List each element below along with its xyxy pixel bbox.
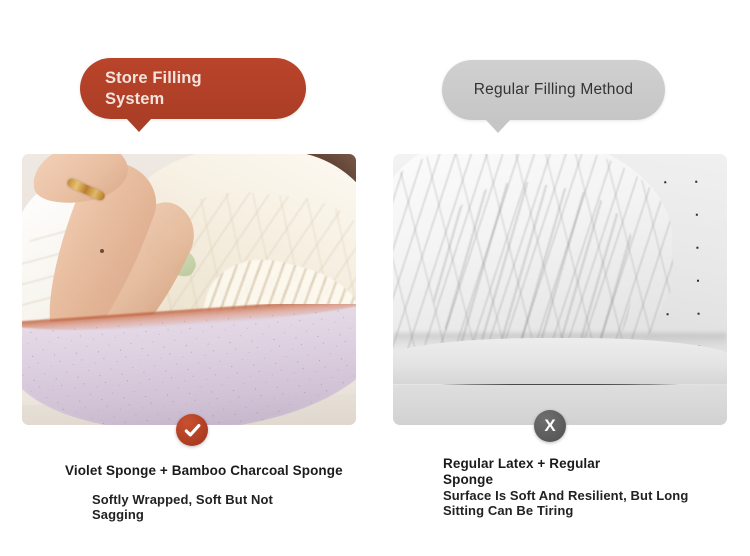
check-badge — [176, 414, 208, 446]
comparison-infographic: Store Filling System Regular Filling Met… — [0, 0, 750, 556]
left-photo-scene — [22, 154, 356, 425]
right-photo-scene — [393, 154, 727, 425]
latex-slab-upper — [393, 338, 727, 384]
x-badge: X — [534, 410, 566, 442]
check-icon — [183, 421, 202, 440]
left-method-bubble: Store Filling System — [80, 58, 306, 119]
right-bubble-tail — [486, 120, 510, 133]
right-product-photo — [393, 154, 727, 425]
right-method-bubble: Regular Filling Method — [442, 60, 665, 120]
right-caption-title: Regular Latex + Regular Sponge — [443, 456, 600, 488]
left-caption-title: Violet Sponge + Bamboo Charcoal Sponge — [65, 463, 343, 479]
left-bubble-tail — [126, 118, 152, 132]
x-icon: X — [544, 416, 555, 436]
left-caption-subtitle: Softly Wrapped, Soft But Not Sagging — [92, 492, 273, 522]
right-method-label: Regular Filling Method — [474, 80, 633, 100]
violet-sponge-area — [22, 304, 356, 425]
right-caption-subtitle: Surface Is Soft And Resilient, But Long … — [443, 488, 688, 518]
skin-mole — [100, 249, 104, 253]
left-product-photo — [22, 154, 356, 425]
left-method-label: Store Filling System — [105, 68, 202, 110]
